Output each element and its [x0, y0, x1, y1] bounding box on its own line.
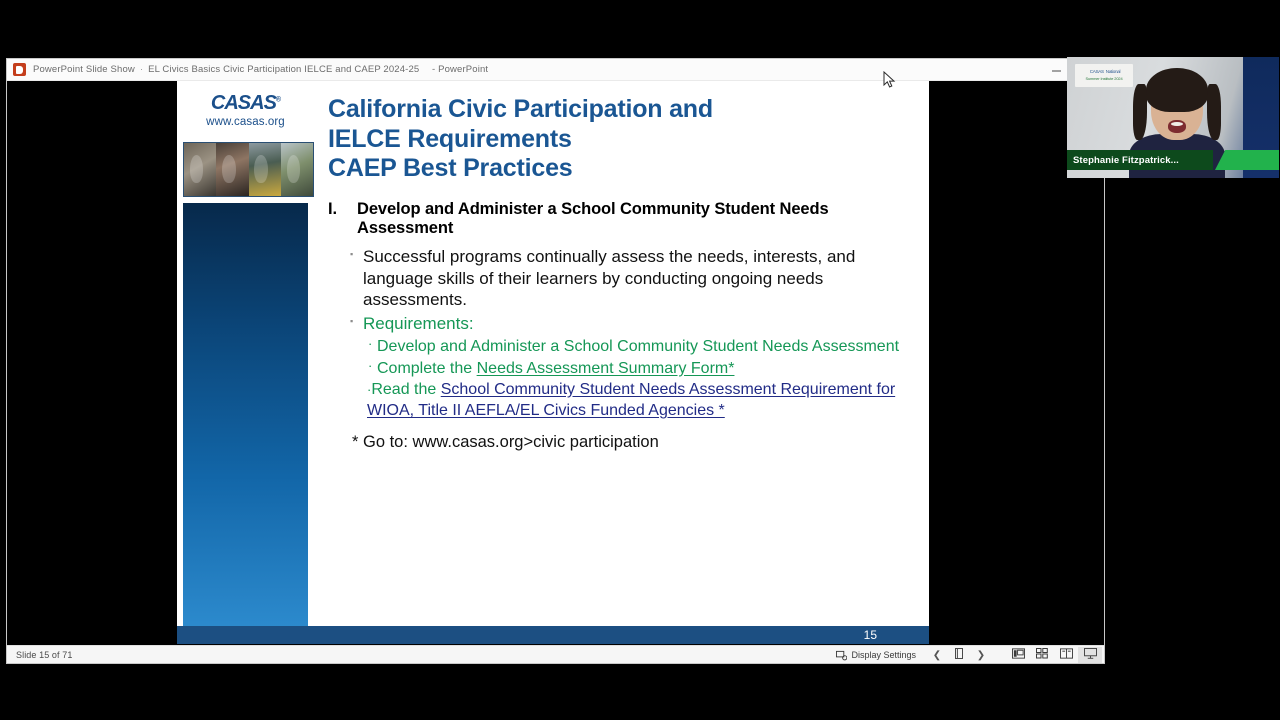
- bullet-item: ▪ Requirements:: [350, 313, 911, 335]
- casas-wordmark-text: CASAS: [211, 92, 276, 114]
- collage-photo-1: [184, 143, 216, 196]
- slide-title-line-2: IELCE Requirements: [328, 125, 911, 155]
- casas-wordmark: CASAS®: [211, 93, 280, 113]
- slide-title-line-1: California Civic Participation and: [328, 95, 911, 125]
- status-bar-right: Display Settings ❮ ❯: [836, 646, 1102, 664]
- screen-root: PowerPoint Slide Show · EL Civics Basics…: [0, 0, 1280, 720]
- titlebar-separator: ·: [140, 64, 143, 75]
- slide-sorter-button[interactable]: [1030, 647, 1054, 663]
- normal-view-button[interactable]: [1006, 647, 1030, 663]
- collage-photo-2: [216, 143, 248, 196]
- view-buttons-group: [1006, 647, 1102, 663]
- roman-heading-text: Develop and Administer a School Communit…: [357, 200, 911, 240]
- badge-national-text: National: [1106, 69, 1120, 74]
- collage-photo-4: [281, 143, 313, 196]
- sub-bullet-prefix: Complete the: [377, 360, 477, 377]
- display-settings-icon: [836, 650, 847, 661]
- slide-sorter-icon: [1036, 646, 1048, 664]
- square-bullet-icon: ▪: [350, 313, 363, 335]
- powerpoint-window: PowerPoint Slide Show · EL Civics Basics…: [6, 58, 1105, 664]
- participant-hair-left: [1133, 84, 1147, 140]
- titlebar-spacer: [424, 64, 427, 75]
- dot-bullet-icon: ·: [368, 358, 377, 379]
- previous-slide-button[interactable]: ❮: [926, 647, 948, 663]
- sub-bullet-prefix: Read the: [371, 381, 440, 398]
- slide-counter: Slide 15 of 71: [16, 650, 72, 660]
- roman-numeral: I.: [328, 200, 357, 240]
- sub-bullet-item: · Complete the Needs Assessment Summary …: [368, 358, 911, 379]
- sub-bullet-text: Complete the Needs Assessment Summary Fo…: [377, 358, 734, 379]
- participant-name: Stephanie Fitzpatrick...: [1073, 155, 1179, 166]
- status-bar: Slide 15 of 71 Display Settings ❮: [7, 645, 1104, 663]
- bullet-text: Successful programs continually assess t…: [363, 246, 911, 311]
- mouth: [1168, 120, 1186, 133]
- badge-casas-text: CASAS: [1090, 69, 1104, 74]
- titlebar-document-title: EL Civics Basics Civic Participation IEL…: [148, 64, 419, 75]
- slide-title: California Civic Participation and IELCE…: [328, 95, 911, 184]
- sub-bullet-item: · Develop and Administer a School Commun…: [368, 336, 911, 357]
- reading-view-icon: [1060, 646, 1073, 664]
- next-slide-button[interactable]: ❯: [970, 647, 992, 663]
- slide-show-button[interactable]: [1078, 647, 1102, 663]
- slide-footer-bar: 15: [177, 626, 929, 644]
- registered-mark: ®: [276, 96, 280, 103]
- chevron-left-icon: ❮: [933, 650, 941, 661]
- slide-footnote: * Go to: www.casas.org>civic participati…: [352, 433, 911, 453]
- slide-body: I. Develop and Administer a School Commu…: [328, 200, 911, 453]
- bullet-text-requirements: Requirements:: [363, 313, 911, 335]
- display-settings-label: Display Settings: [851, 650, 916, 660]
- video-participant-tile[interactable]: CASASNational Summer Institute 2024 Step…: [1067, 57, 1279, 178]
- normal-view-icon: [1012, 646, 1025, 664]
- slide-show-icon: [1084, 646, 1097, 664]
- casas-url: www.casas.org: [206, 116, 285, 128]
- participant-name-bar: Stephanie Fitzpatrick...: [1067, 150, 1279, 170]
- collage-photo-3: [249, 143, 281, 196]
- chevron-right-icon: ❯: [977, 650, 985, 661]
- pen-tools-icon: [954, 646, 964, 664]
- bullet-item: ▪ Successful programs continually assess…: [350, 246, 911, 311]
- display-settings-button[interactable]: Display Settings: [836, 650, 916, 661]
- level3-bullets: · Develop and Administer a School Commun…: [368, 336, 911, 420]
- mouse-pointer-icon: [883, 71, 897, 94]
- level2-bullets: ▪ Successful programs continually assess…: [350, 246, 911, 421]
- slide-canvas[interactable]: CASAS® www.casas.org Califo: [177, 81, 929, 644]
- needs-assessment-summary-form-link[interactable]: Needs Assessment Summary Form*: [477, 360, 735, 377]
- participant-hair-right: [1207, 84, 1221, 140]
- badge-line-2: Summer Institute 2024: [1085, 77, 1122, 81]
- wioa-title-ii-link[interactable]: School Community Student Needs Assessmen…: [367, 381, 895, 419]
- casas-institute-badge: CASASNational Summer Institute 2024: [1075, 64, 1133, 87]
- slide-page-number: 15: [864, 628, 877, 642]
- casas-logo-block: CASAS® www.casas.org: [177, 81, 314, 136]
- titlebar-mode: PowerPoint Slide Show: [33, 64, 135, 75]
- dot-bullet-icon: ·: [368, 336, 377, 357]
- slide-title-line-3: CAEP Best Practices: [328, 154, 911, 184]
- blue-gradient-panel: [183, 203, 308, 644]
- slideshow-stage[interactable]: CASAS® www.casas.org Califo: [7, 81, 1104, 645]
- roman-list-item: I. Develop and Administer a School Commu…: [328, 200, 911, 240]
- pen-tools-button[interactable]: [948, 647, 970, 663]
- sub-bullet-item: ·Read the School Community Student Needs…: [367, 379, 911, 421]
- sub-bullet-text: Develop and Administer a School Communit…: [377, 336, 899, 357]
- window-titlebar[interactable]: PowerPoint Slide Show · EL Civics Basics…: [7, 59, 1104, 81]
- reading-view-button[interactable]: [1054, 647, 1078, 663]
- slide-left-column: CASAS® www.casas.org: [177, 81, 314, 644]
- badge-line-1: CASASNational: [1088, 70, 1121, 75]
- square-bullet-icon: ▪: [350, 246, 363, 311]
- participant-hair: [1146, 68, 1208, 112]
- powerpoint-icon: [13, 63, 26, 76]
- photo-collage: [183, 142, 314, 197]
- titlebar-suffix: - PowerPoint: [432, 64, 488, 75]
- slide-content: California Civic Participation and IELCE…: [314, 81, 929, 644]
